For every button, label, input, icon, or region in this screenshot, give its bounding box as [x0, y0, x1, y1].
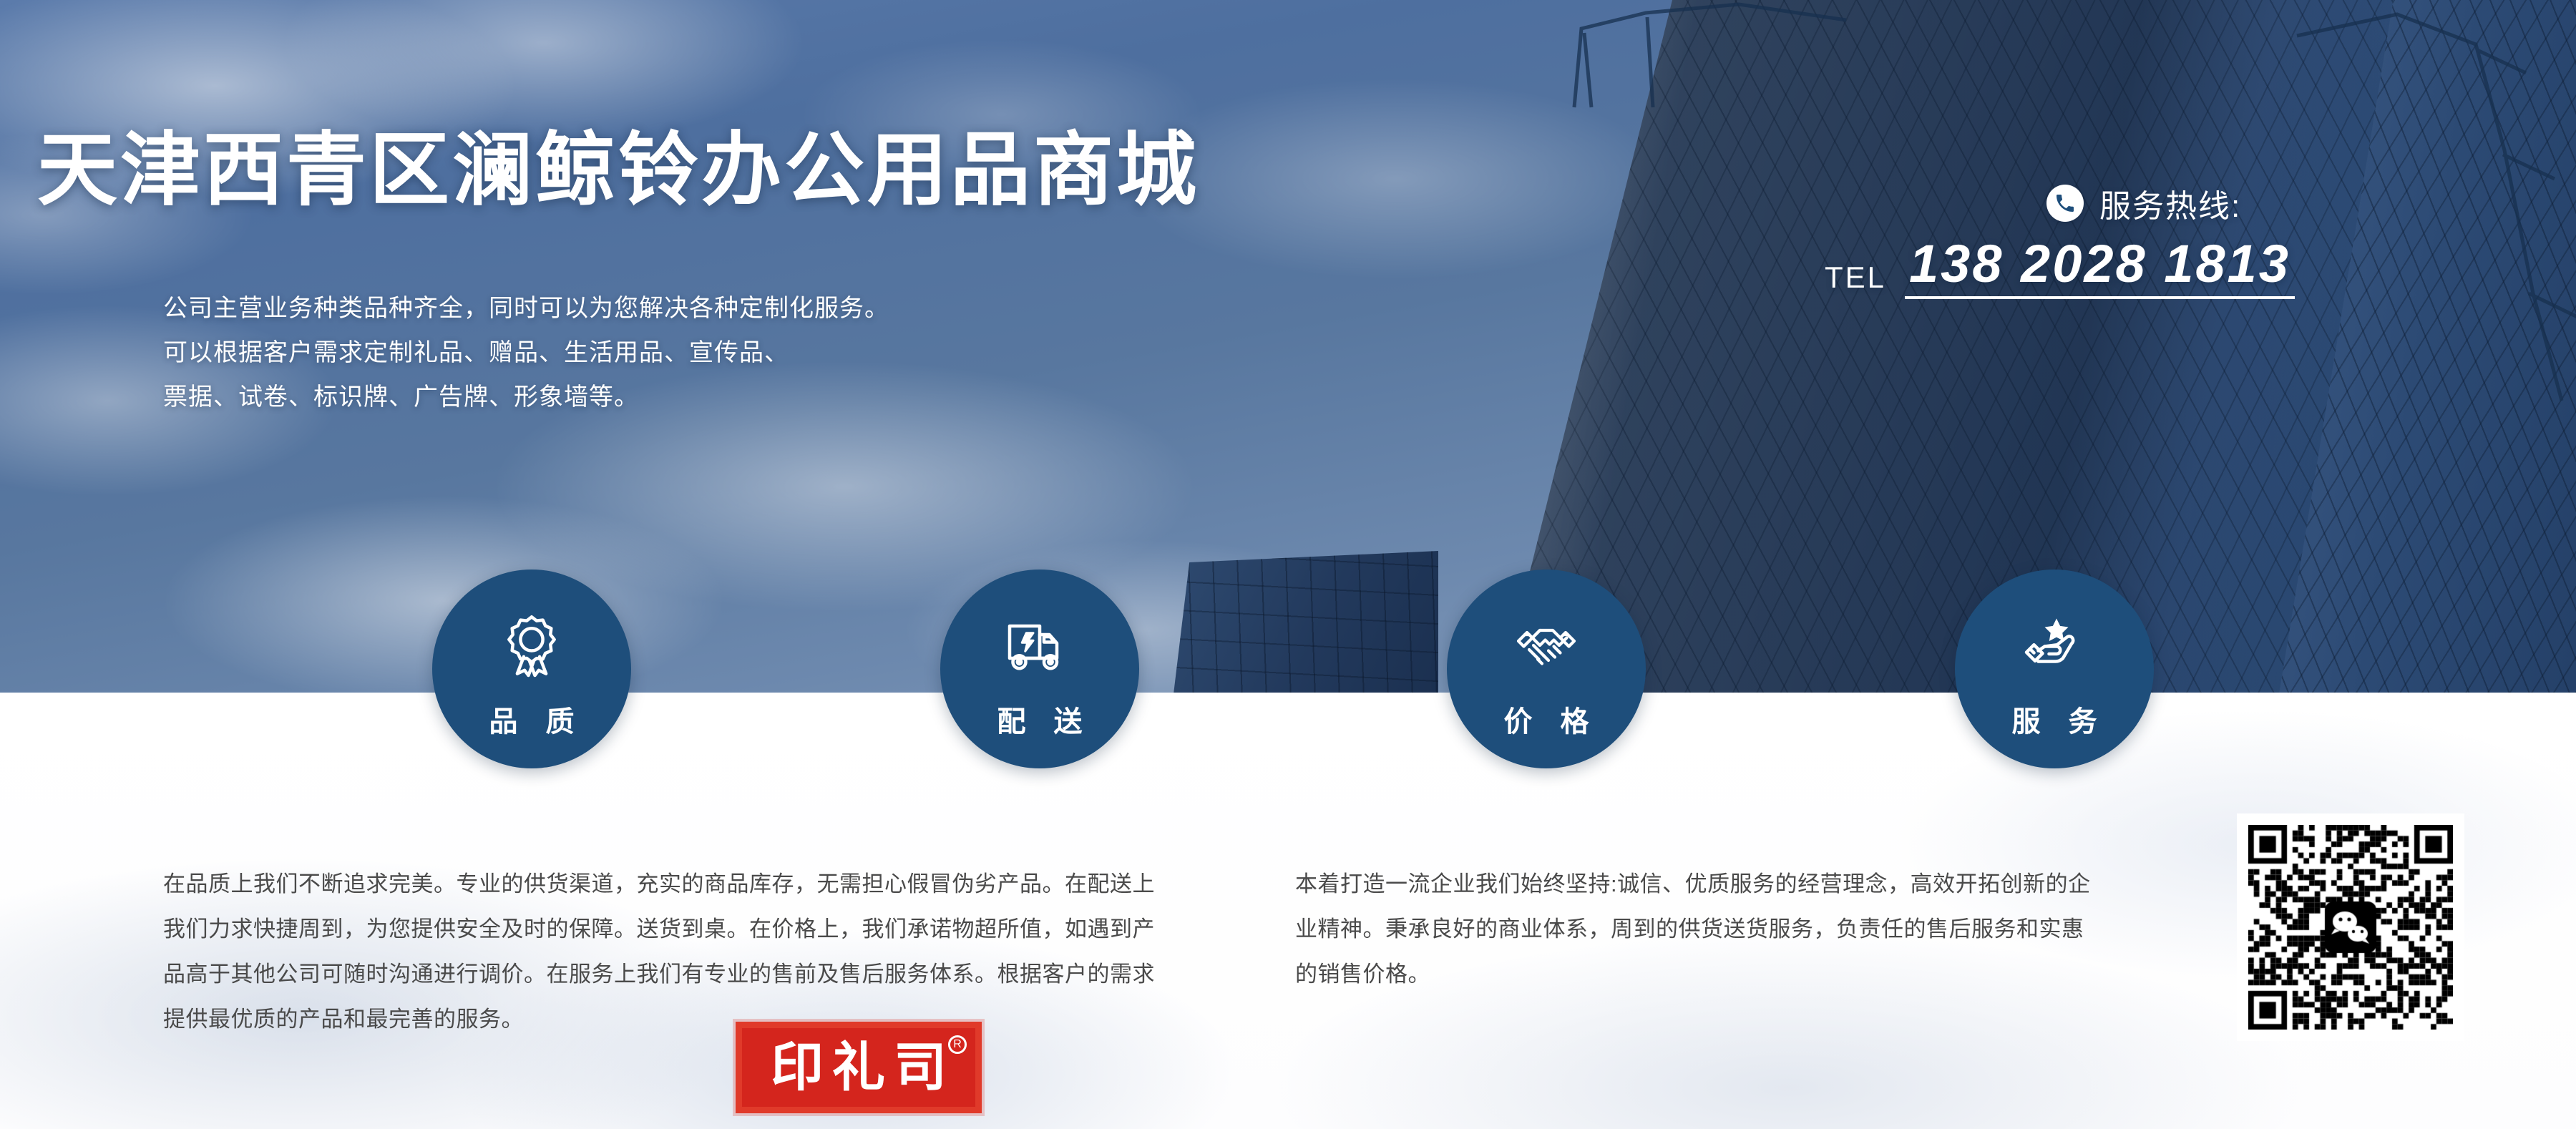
hero-description-line-1: 公司主营业务种类品种齐全，同时可以为您解决各种定制化服务。 [163, 286, 889, 331]
feature-item-quality[interactable]: 品 质 [432, 570, 631, 768]
tower-crown-icon [2290, 7, 2576, 408]
feature-label: 价 格 [1493, 698, 1599, 740]
handshake-icon [1512, 611, 1581, 680]
feature-label: 服 务 [2001, 698, 2107, 740]
hero-description: 公司主营业务种类品种齐全，同时可以为您解决各种定制化服务。 可以根据客户需求定制… [163, 286, 889, 419]
company-seal: 印礼司 R [736, 1022, 982, 1113]
feature-item-delivery[interactable]: 配 送 [940, 570, 1139, 768]
hand-star-icon [2020, 611, 2089, 680]
about-text-left: 在品质上我们不断追求完美。专业的供货渠道，充实的商品库存，无需担心假冒伪劣产品。… [163, 861, 1165, 1042]
feature-item-price[interactable]: 价 格 [1447, 570, 1646, 768]
tower-mast-icon [1560, 0, 1860, 114]
delivery-truck-icon [1005, 611, 1074, 680]
telephone-number[interactable]: 138 2028 1813 [1905, 236, 2295, 299]
hero-description-line-3: 票据、试卷、标识牌、广告牌、形象墙等。 [163, 375, 889, 419]
tel-prefix-label: TEL [1825, 260, 1886, 299]
feature-label: 配 送 [987, 698, 1092, 740]
qr-canvas [2248, 825, 2453, 1030]
hero-description-line-2: 可以根据客户需求定制礼品、赠品、生活用品、宣传品、 [163, 331, 889, 375]
seal-text: 印礼司 [762, 1041, 955, 1094]
hotline-label: 服务热线: [2099, 180, 2241, 226]
registered-mark-icon: R [948, 1035, 967, 1054]
promo-banner: 天津西青区澜鲸铃办公用品商城 公司主营业务种类品种齐全，同时可以为您解决各种定制… [0, 0, 2576, 1129]
feature-item-service[interactable]: 服 务 [1955, 570, 2154, 768]
feature-label: 品 质 [479, 698, 584, 740]
mid-building [1174, 551, 1438, 693]
page-title: 天津西青区澜鲸铃办公用品商城 [37, 130, 1199, 210]
hotline-label-row: 服务热线: [2046, 180, 2241, 226]
wechat-qr-code[interactable] [2237, 813, 2464, 1041]
award-ribbon-icon [497, 611, 566, 680]
phone-icon [2046, 185, 2084, 222]
telephone-row: TEL 138 2028 1813 [1825, 236, 2295, 299]
about-text-right: 本着打造一流企业我们始终坚持:诚信、优质服务的经营理念，高效开拓创新的企业精神。… [1295, 861, 2104, 997]
hotline-block: 服务热线: TEL 138 2028 1813 [2046, 180, 2241, 226]
